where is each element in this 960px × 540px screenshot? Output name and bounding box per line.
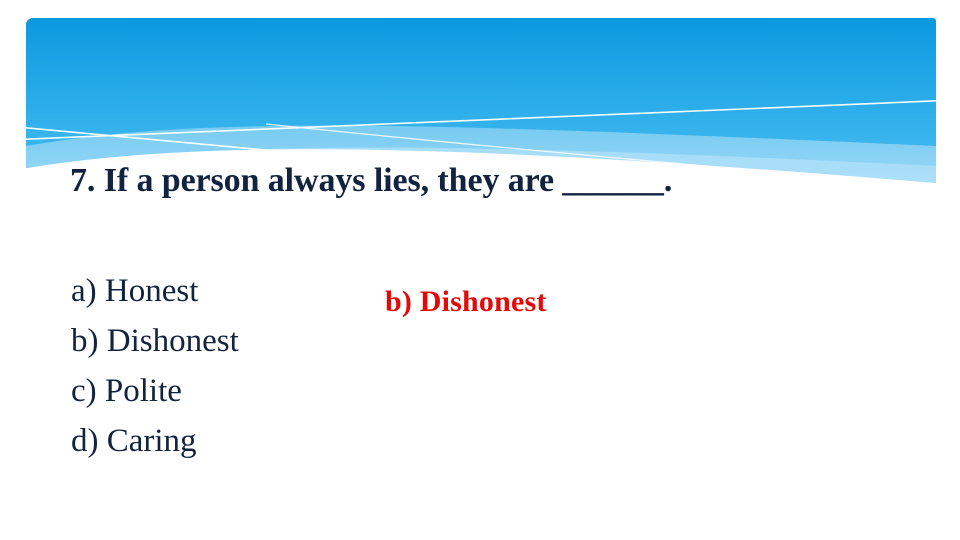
presentation-slide: 7. If a person always lies, they are ___…	[0, 0, 960, 540]
option-b[interactable]: b) Dishonest	[71, 316, 411, 366]
slide-content: 7. If a person always lies, they are ___…	[0, 0, 960, 540]
option-c[interactable]: c) Polite	[71, 366, 411, 416]
answer-options-list: a) Honest b) Dishonest c) Polite d) Cari…	[71, 266, 411, 467]
correct-answer-text: b) Dishonest	[385, 285, 547, 319]
option-d[interactable]: d) Caring	[71, 416, 411, 466]
option-a[interactable]: a) Honest	[71, 266, 411, 316]
question-text: 7. If a person always lies, they are ___…	[70, 160, 770, 201]
